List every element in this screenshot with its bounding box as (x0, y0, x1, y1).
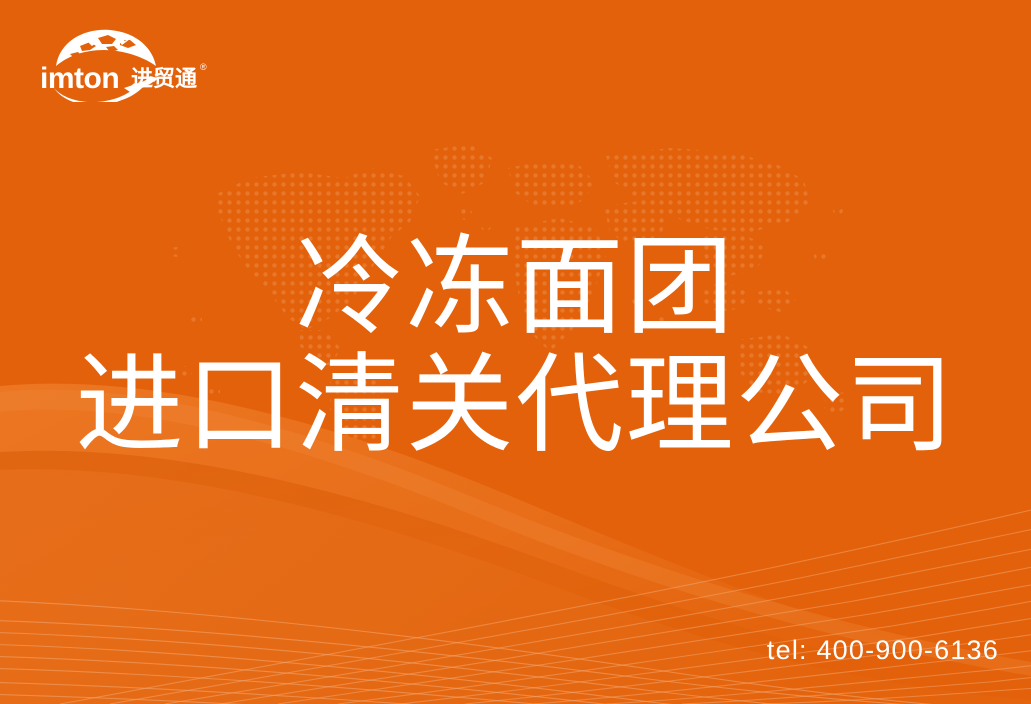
logo-wordmark: imton (40, 62, 119, 95)
brand-logo[interactable]: imton 进贸通 ® (38, 26, 218, 102)
telephone-text: tel: 400-900-6136 (767, 634, 999, 666)
globe-dome-icon (56, 30, 156, 66)
headline-line-1: 冷冻面团 (0, 228, 1031, 346)
promo-banner: imton 进贸通 ® 冷冻面团 进口清关代理公司 tel: 400-900-6… (0, 0, 1031, 704)
headline-line-2: 进口清关代理公司 (0, 346, 1031, 464)
headline-block: 冷冻面团 进口清关代理公司 (0, 228, 1031, 464)
trademark-symbol: ® (200, 62, 207, 72)
